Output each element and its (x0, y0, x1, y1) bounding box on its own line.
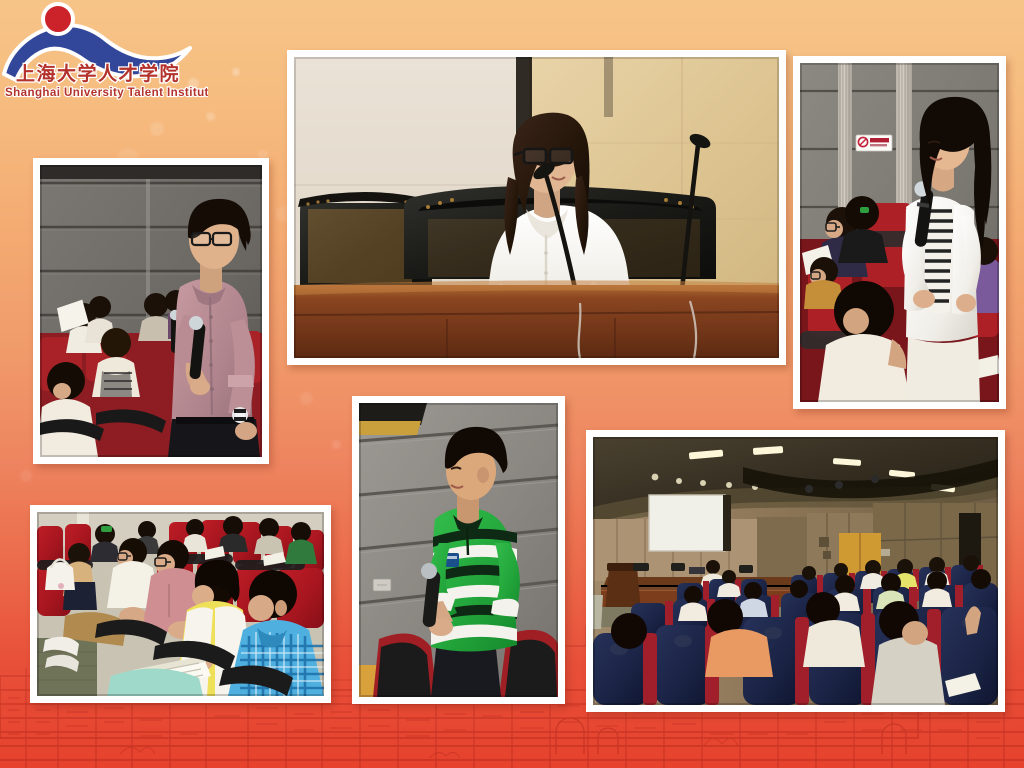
bokeh-bubble (300, 392, 313, 405)
photo-image (359, 403, 558, 697)
photo-audience-listening-taking-notes[interactable] (30, 505, 331, 703)
photo-student-in-green-striped-polo[interactable] (352, 396, 565, 704)
red-circle-sun-icon (43, 4, 73, 34)
bokeh-bubble (232, 68, 240, 76)
photo-image (800, 63, 999, 402)
logo-english-name: Shanghai University Talent Institute (5, 86, 208, 99)
logo-chinese-name: 上海大学人才学院 (16, 62, 180, 85)
no-smoking-sign-icon (856, 135, 892, 151)
bokeh-bubble (20, 470, 32, 482)
shanghai-university-talent-institute-logo: 上海大学人才学院 Shanghai University Talent Inst… (2, 0, 208, 104)
bokeh-bubble (150, 122, 164, 136)
photo-image (593, 437, 998, 705)
photo-image (40, 165, 262, 457)
photo-male-student-asking-question[interactable] (33, 158, 269, 464)
photo-female-student-asking-question[interactable] (793, 56, 1006, 409)
photo-image (294, 57, 779, 358)
photo-lecture-hall-wide-shot[interactable] (586, 430, 1005, 712)
photo-woman-speaking-at-podium[interactable] (287, 50, 786, 365)
photo-image (37, 512, 324, 696)
collage-canvas: 上海大学人才学院 Shanghai University Talent Inst… (0, 0, 1024, 768)
bokeh-bubble (206, 112, 215, 121)
bokeh-bubble (332, 440, 341, 449)
